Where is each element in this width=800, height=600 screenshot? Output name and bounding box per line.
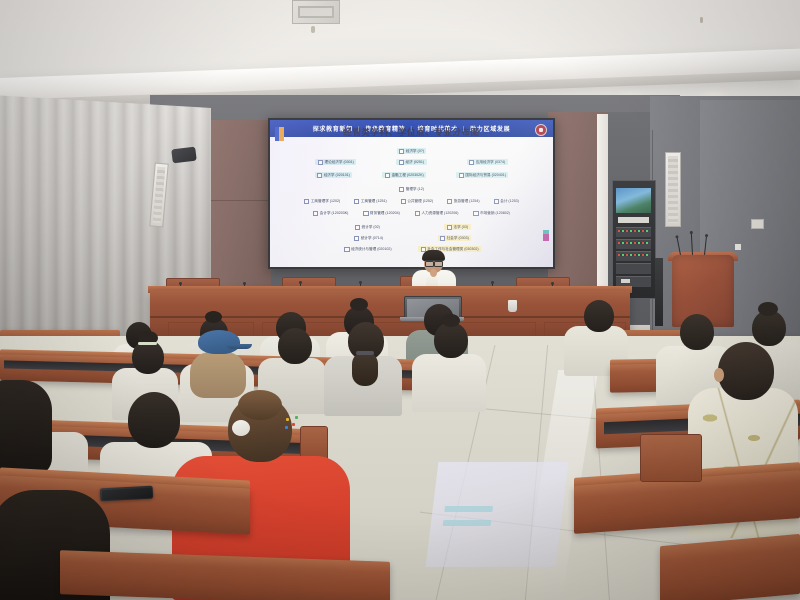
- banner-separator: |: [358, 126, 360, 132]
- presentation-slide: 经管类学科、学位点、专业分布图 经济学 (0?) 理论经济学 (0301) 经济…: [270, 120, 553, 267]
- slide-chip: 工商管理 (1251): [352, 198, 389, 204]
- hair-clip-icon: [295, 416, 298, 419]
- slide-chip: 金融工程 (020302K): [382, 172, 426, 178]
- hair-clip-icon: [286, 418, 289, 421]
- rack-display-readout: [621, 279, 630, 283]
- slide-row: 管理学 (12): [270, 186, 553, 192]
- slide-chip: 公共管理 (1252): [398, 198, 435, 204]
- hair-bun: [238, 390, 282, 420]
- reflection-chip: [444, 506, 493, 512]
- checkbox-icon: [401, 199, 406, 204]
- slide-row: 工商管理学 (1202) 工商管理 (1251) 公共管理 (1252) 旅游管…: [270, 198, 553, 204]
- ceiling-speaker-dark: [171, 147, 197, 164]
- slide-chip: 统计学 (0714): [352, 235, 386, 241]
- person-head: [584, 300, 614, 332]
- long-hair: [0, 380, 52, 476]
- rack-led-strip-icon: [618, 230, 648, 232]
- blue-cap-icon: [198, 330, 240, 354]
- rack-led-strip-icon: [618, 254, 648, 256]
- smartphone-on-desk[interactable]: [100, 486, 154, 502]
- checkbox-icon: [399, 149, 404, 154]
- projection-screen[interactable]: 经管类学科、学位点、专业分布图 经济学 (0?) 理论经济学 (0301) 经济…: [268, 118, 555, 269]
- checkbox-icon: [363, 211, 368, 216]
- hair-clip-icon: [292, 423, 295, 426]
- slide-chip: 理论经济学 (0301): [315, 159, 356, 165]
- person-head: [680, 314, 714, 350]
- slide-row: 统计学 (02) 法学 (03): [270, 224, 553, 230]
- air-conditioning-vent: [292, 0, 340, 24]
- rack-unit: [616, 263, 651, 274]
- person-head: [128, 392, 180, 448]
- slide-chip: 经济学 (0?): [397, 148, 427, 154]
- slide-chip: 旅游管理 (1254): [445, 198, 482, 204]
- person-torso: [412, 354, 486, 412]
- long-hair: [190, 352, 246, 398]
- rack-monitor-screen[interactable]: [616, 188, 651, 213]
- hair-bun: [758, 302, 778, 316]
- checkbox-icon: [440, 236, 445, 241]
- slide-chip: 会计学 (120203K): [311, 210, 351, 216]
- bench-seat-back-right[interactable]: [640, 434, 702, 482]
- checkbox-icon: [385, 173, 390, 178]
- checkbox-icon: [344, 247, 349, 252]
- slide-row: 统计学 (0714) 社会学 (0303): [270, 235, 553, 241]
- hair-tie: [356, 351, 374, 355]
- hair-bun: [350, 298, 368, 311]
- slide-row: 会计学 (120203K) 财务管理 (120204) 人力资源管理 (1202…: [270, 210, 553, 216]
- university-seal-logo-icon: [535, 124, 547, 136]
- slide-chip: 国际经济与贸易 (020401): [456, 172, 508, 178]
- checkbox-icon: [415, 211, 420, 216]
- person-head: [132, 340, 164, 374]
- eyeglasses-icon: [425, 260, 443, 265]
- slide-chip: 会计 (1253): [491, 198, 521, 204]
- hair-tie: [138, 342, 157, 345]
- rack-unit: [616, 239, 651, 249]
- fire-sprinkler: [311, 26, 315, 33]
- checkbox-icon: [459, 173, 464, 178]
- hair-bun: [442, 314, 460, 327]
- rack-led-strip-icon: [618, 242, 648, 244]
- head-table-seam: [150, 316, 630, 318]
- lecture-hall-photo: 经管类学科、学位点、专业分布图 经济学 (0?) 理论经济学 (0301) 经济…: [0, 0, 800, 600]
- person-head: [278, 328, 312, 364]
- cap-brim-icon: [226, 344, 252, 349]
- hair-clip-icon: [285, 426, 288, 429]
- checkbox-icon: [473, 211, 478, 216]
- slide-chip: 管理学 (12): [397, 186, 427, 192]
- slide-row: 经济学 (020101) 金融工程 (020302K) 国际经济与贸易 (020…: [270, 172, 553, 178]
- checkbox-icon: [447, 199, 452, 204]
- checkbox-icon: [354, 199, 359, 204]
- checkbox-icon: [355, 225, 360, 230]
- checkbox-icon: [399, 187, 404, 192]
- slide-chip: 经济 (0251): [396, 159, 426, 165]
- wall-speaker-right: [665, 152, 681, 227]
- wall-outlet-left: [735, 244, 741, 250]
- slide-reflection-on-floor: [426, 462, 569, 567]
- wall-plate-left: [751, 219, 764, 229]
- rack-label: [618, 217, 649, 223]
- slide-chip: 社会学 (0303): [438, 235, 472, 241]
- slide-chip: 法学 (03): [444, 224, 470, 230]
- slide-row: 经济学 (0?): [270, 148, 553, 154]
- person-head: [718, 342, 774, 400]
- slide-chip: 应用经济学 (0374): [467, 159, 508, 165]
- banner-separator: |: [463, 126, 465, 132]
- person-head: [434, 322, 468, 358]
- checkbox-icon: [318, 160, 323, 165]
- slide-chip: 人力资源管理 (120206): [412, 210, 461, 216]
- hair-bun: [205, 311, 222, 323]
- water-cup: [508, 300, 517, 312]
- slide-chip: 统计学 (02): [352, 224, 382, 230]
- slide-chip: 工商管理学 (1202): [302, 198, 343, 204]
- podium-side-stand: [655, 258, 663, 326]
- checkbox-icon: [304, 199, 309, 204]
- av-equipment-rack[interactable]: [612, 180, 656, 299]
- slide-chip: 经济学 (020101): [315, 172, 353, 178]
- rack-unit: [616, 227, 651, 237]
- screen-glare: [270, 120, 553, 267]
- bench-desk-nearest-right: [660, 534, 800, 600]
- slide-corner-mark: [543, 230, 549, 241]
- slide-chip: 经济统计与管理 (020102): [342, 246, 394, 252]
- checkbox-icon: [494, 199, 499, 204]
- slide-row: 理论经济学 (0301) 经济 (0251) 应用经济学 (0374): [270, 159, 553, 165]
- checkbox-icon: [313, 211, 318, 216]
- checkbox-icon: [317, 173, 322, 178]
- person-ear: [714, 368, 724, 382]
- wall-panel-seam: [209, 200, 271, 201]
- slide-chip: 财务管理 (120204): [361, 210, 402, 216]
- presenter-hand: [430, 269, 437, 277]
- fire-sprinkler: [700, 17, 703, 23]
- slide-chip: 市场营销 (120802): [471, 210, 512, 216]
- checkbox-icon: [399, 160, 404, 165]
- checkbox-icon: [447, 225, 452, 230]
- hair-scrunchie: [232, 420, 250, 436]
- ponytail: [352, 352, 378, 386]
- reflection-chip: [443, 520, 492, 526]
- rack-unit: [616, 251, 651, 261]
- checkbox-icon: [354, 236, 359, 241]
- banner-separator: |: [410, 126, 412, 132]
- checkbox-icon: [469, 160, 474, 165]
